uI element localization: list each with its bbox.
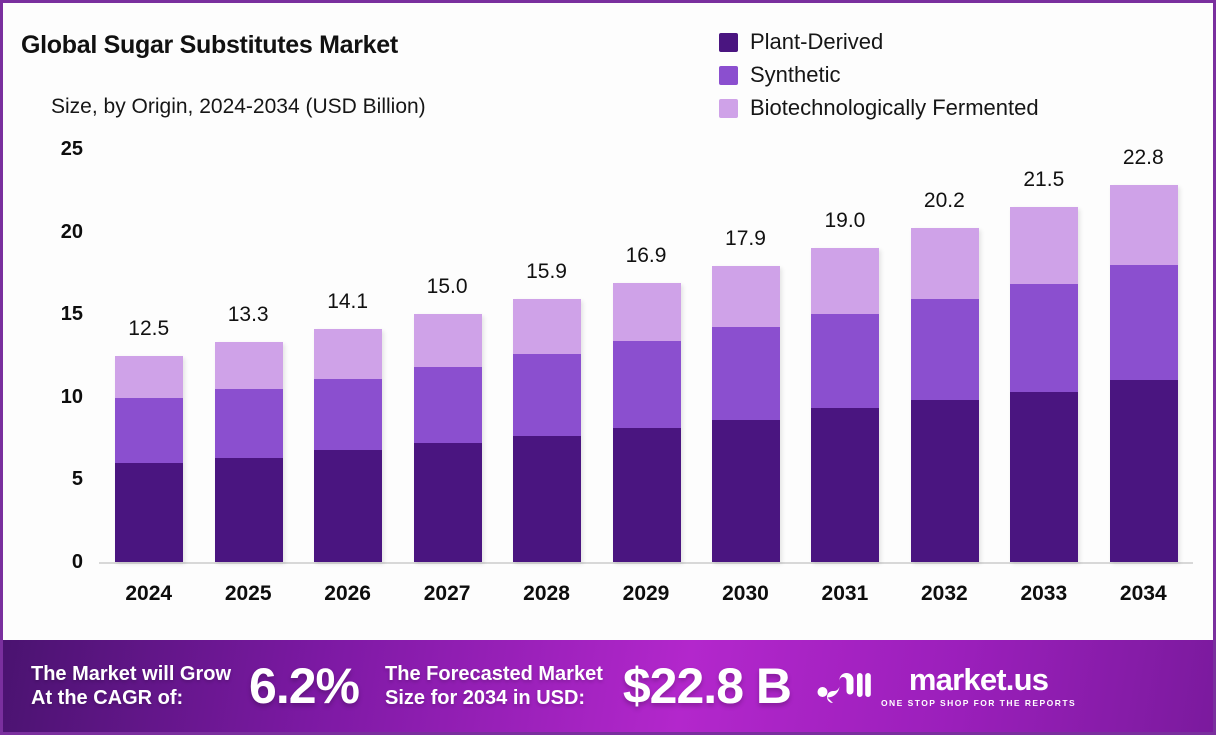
bar-segment[interactable] (414, 443, 482, 562)
stacked-bar[interactable] (314, 329, 382, 562)
bar-segment[interactable] (911, 228, 979, 299)
x-axis-tick-label: 2025 (199, 583, 298, 604)
bar-column[interactable]: 16.92029 (597, 3, 696, 631)
bar-segment[interactable] (911, 299, 979, 400)
bar-value-label: 14.1 (298, 291, 397, 312)
chart-plot-area: 0510152025 12.5202413.3202514.1202615.02… (3, 3, 1216, 631)
bar-segment[interactable] (314, 329, 382, 379)
bar-segment[interactable] (811, 314, 879, 408)
bar-value-label: 22.8 (1094, 147, 1193, 168)
cagr-value: 6.2% (249, 661, 359, 711)
bar-column[interactable]: 15.02027 (398, 3, 497, 631)
bar-segment[interactable] (1110, 380, 1178, 562)
bar-column[interactable]: 12.52024 (99, 3, 198, 631)
bar-segment[interactable] (314, 450, 382, 562)
bar-value-label: 15.9 (497, 261, 596, 282)
bar-segment[interactable] (712, 420, 780, 562)
bar-value-label: 21.5 (994, 169, 1093, 190)
bar-segment[interactable] (1110, 185, 1178, 264)
stacked-bar[interactable] (811, 248, 879, 562)
x-axis-tick-label: 2030 (696, 583, 795, 604)
bar-segment[interactable] (115, 356, 183, 399)
y-axis-tick-label: 5 (27, 469, 83, 489)
bar-group: 12.5202413.3202514.1202615.0202715.92028… (99, 3, 1193, 631)
bar-column[interactable]: 14.12026 (298, 3, 397, 631)
stacked-bar[interactable] (911, 228, 979, 562)
bar-column[interactable]: 15.92028 (497, 3, 596, 631)
y-axis-tick-label: 20 (27, 222, 83, 242)
bar-segment[interactable] (1010, 392, 1078, 562)
bar-segment[interactable] (314, 379, 382, 450)
bar-column[interactable]: 19.02031 (795, 3, 894, 631)
bar-segment[interactable] (115, 463, 183, 562)
stacked-bar[interactable] (215, 342, 283, 562)
x-axis-tick-label: 2027 (398, 583, 497, 604)
bar-column[interactable]: 20.22032 (895, 3, 994, 631)
forecast-caption: The Forecasted Market Size for 2034 in U… (385, 662, 603, 711)
cagr-caption: The Market will Grow At the CAGR of: (31, 662, 231, 711)
bar-segment[interactable] (613, 341, 681, 429)
bar-segment[interactable] (414, 314, 482, 367)
bar-segment[interactable] (115, 398, 183, 462)
forecast-value: $22.8 B (623, 661, 791, 711)
x-axis-tick-label: 2032 (895, 583, 994, 604)
bar-column[interactable]: 13.32025 (199, 3, 298, 631)
bar-segment[interactable] (513, 354, 581, 437)
y-axis-tick-label: 15 (27, 304, 83, 324)
bar-column[interactable]: 17.92030 (696, 3, 795, 631)
stacked-bar[interactable] (414, 314, 482, 562)
y-axis-tick-label: 25 (27, 139, 83, 159)
bar-segment[interactable] (712, 327, 780, 420)
bar-value-label: 16.9 (597, 245, 696, 266)
bar-segment[interactable] (811, 248, 879, 314)
y-axis-tick-label: 10 (27, 387, 83, 407)
x-axis-tick-label: 2024 (99, 583, 198, 604)
stacked-bar[interactable] (613, 283, 681, 562)
bar-segment[interactable] (712, 266, 780, 327)
market-us-mark-icon (817, 665, 871, 708)
bar-segment[interactable] (613, 428, 681, 562)
bar-column[interactable]: 21.52033 (994, 3, 1093, 631)
stacked-bar[interactable] (712, 266, 780, 562)
x-axis-tick-label: 2033 (994, 583, 1093, 604)
logo-tagline: ONE STOP SHOP FOR THE REPORTS (881, 699, 1076, 708)
x-axis-tick-label: 2031 (795, 583, 894, 604)
x-axis-tick-label: 2026 (298, 583, 397, 604)
x-axis-tick-label: 2034 (1094, 583, 1193, 604)
bar-segment[interactable] (513, 436, 581, 562)
stacked-bar[interactable] (115, 356, 183, 562)
bar-value-label: 19.0 (795, 210, 894, 231)
bar-segment[interactable] (613, 283, 681, 341)
bar-value-label: 12.5 (99, 318, 198, 339)
stacked-bar[interactable] (1110, 185, 1178, 562)
market-us-logo: market.us ONE STOP SHOP FOR THE REPORTS (817, 664, 1076, 708)
bar-segment[interactable] (215, 389, 283, 458)
x-axis-tick-label: 2028 (497, 583, 596, 604)
y-axis-tick-label: 0 (27, 552, 83, 572)
stacked-bar[interactable] (1010, 207, 1078, 562)
bar-column[interactable]: 22.82034 (1094, 3, 1193, 631)
logo-name: market.us (909, 664, 1048, 695)
bar-segment[interactable] (1010, 284, 1078, 391)
bar-segment[interactable] (414, 367, 482, 443)
x-axis-tick-label: 2029 (597, 583, 696, 604)
bar-segment[interactable] (811, 408, 879, 562)
footer-banner: The Market will Grow At the CAGR of: 6.2… (3, 640, 1216, 732)
bar-segment[interactable] (911, 400, 979, 562)
stacked-bar[interactable] (513, 299, 581, 562)
bar-segment[interactable] (215, 342, 283, 388)
bar-value-label: 15.0 (398, 276, 497, 297)
bar-value-label: 13.3 (199, 304, 298, 325)
bar-segment[interactable] (513, 299, 581, 354)
bar-segment[interactable] (215, 458, 283, 562)
bar-value-label: 17.9 (696, 228, 795, 249)
bar-segment[interactable] (1010, 207, 1078, 285)
chart-card: Global Sugar Substitutes Market Size, by… (0, 0, 1216, 735)
bar-segment[interactable] (1110, 265, 1178, 381)
y-axis-ticks: 0510152025 (27, 3, 83, 631)
bar-value-label: 20.2 (895, 190, 994, 211)
logo-text-wrap: market.us ONE STOP SHOP FOR THE REPORTS (881, 664, 1076, 708)
